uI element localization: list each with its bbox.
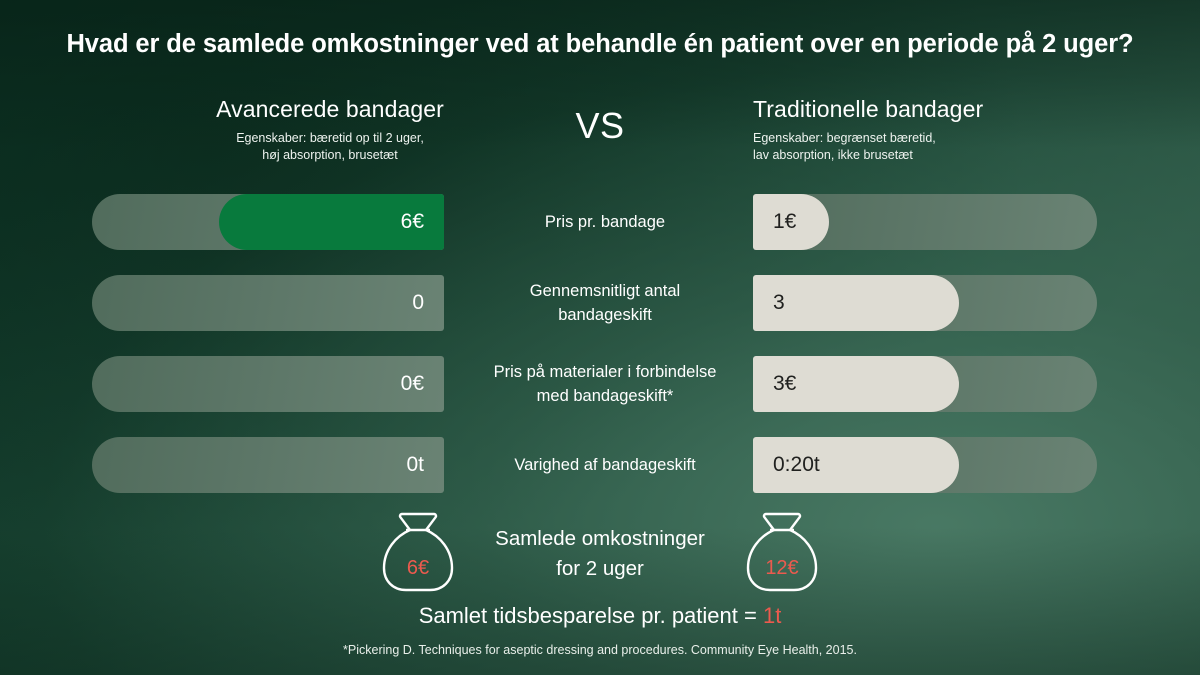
row-label-line1: Gennemsnitligt antal bbox=[460, 279, 750, 303]
bar-value-advanced: 6€ bbox=[401, 210, 424, 234]
bar-fill-advanced: 0 bbox=[92, 275, 444, 331]
row-label-line2: med bandageskift* bbox=[460, 384, 750, 408]
column-subtitle-traditional: Egenskaber: begrænset bæretid, lav absor… bbox=[753, 130, 1060, 164]
bar-track-traditional: 1€ bbox=[753, 194, 1097, 250]
comparison-row: 0€ Pris på materialer i forbindelse med … bbox=[0, 356, 1200, 412]
row-label-line2: bandageskift bbox=[460, 303, 750, 327]
comparison-row: 0t Varighed af bandageskift 0:20t bbox=[0, 437, 1200, 493]
bar-track-traditional: 3€ bbox=[753, 356, 1097, 412]
bar-fill-traditional: 3€ bbox=[753, 356, 959, 412]
money-bag-value-advanced: 6€ bbox=[376, 557, 460, 580]
bar-track-advanced: 0t bbox=[92, 437, 444, 493]
bar-fill-traditional: 3 bbox=[753, 275, 959, 331]
column-subtitle-advanced-line2: høj absorption, brusetæt bbox=[150, 147, 510, 164]
row-label-line1: Pris på materialer i forbindelse bbox=[460, 360, 750, 384]
bar-value-traditional: 3€ bbox=[773, 372, 796, 396]
bar-track-traditional: 0:20t bbox=[753, 437, 1097, 493]
column-subtitle-traditional-line2: lav absorption, ikke brusetæt bbox=[753, 147, 1060, 164]
bar-value-traditional: 1€ bbox=[773, 210, 796, 234]
column-heading-advanced: Avancerede bandager bbox=[150, 96, 510, 123]
bar-value-advanced: 0€ bbox=[401, 372, 424, 396]
savings-line: Samlet tidsbesparelse pr. patient = 1t bbox=[0, 603, 1200, 629]
bar-fill-advanced: 6€ bbox=[219, 194, 444, 250]
money-bag-icon bbox=[376, 508, 460, 594]
money-bag-traditional: 12€ bbox=[740, 508, 824, 594]
column-header-advanced: Avancerede bandager Egenskaber: bæretid … bbox=[150, 96, 510, 164]
row-label: Varighed af bandageskift bbox=[460, 453, 750, 477]
column-subtitle-advanced-line1: Egenskaber: bæretid op til 2 uger, bbox=[150, 130, 510, 147]
bar-track-traditional: 3 bbox=[753, 275, 1097, 331]
totals-label-line2: for 2 uger bbox=[450, 554, 750, 584]
bar-value-traditional: 3 bbox=[773, 291, 785, 315]
comparison-row: 0 Gennemsnitligt antal bandageskift 3 bbox=[0, 275, 1200, 331]
bar-fill-advanced: 0€ bbox=[92, 356, 444, 412]
bar-value-advanced: 0t bbox=[406, 453, 424, 477]
column-heading-traditional: Traditionelle bandager bbox=[753, 96, 1060, 123]
bar-track-advanced: 6€ bbox=[92, 194, 444, 250]
bar-track-advanced: 0€ bbox=[92, 356, 444, 412]
bar-value-advanced: 0 bbox=[412, 291, 424, 315]
bar-value-traditional: 0:20t bbox=[773, 453, 820, 477]
row-label-line1: Pris pr. bandage bbox=[460, 210, 750, 234]
row-label-line1: Varighed af bandageskift bbox=[460, 453, 750, 477]
savings-value: 1t bbox=[763, 603, 781, 628]
infographic-root: Hvad er de samlede omkostninger ved at b… bbox=[0, 0, 1200, 675]
page-title: Hvad er de samlede omkostninger ved at b… bbox=[0, 30, 1200, 59]
row-label: Gennemsnitligt antal bandageskift bbox=[460, 279, 750, 327]
vs-label: VS bbox=[540, 105, 660, 147]
column-subtitle-advanced: Egenskaber: bæretid op til 2 uger, høj a… bbox=[150, 130, 510, 164]
totals-label: Samlede omkostninger for 2 uger bbox=[450, 524, 750, 584]
bar-fill-traditional: 1€ bbox=[753, 194, 829, 250]
column-header-traditional: Traditionelle bandager Egenskaber: begræ… bbox=[700, 96, 1060, 164]
bar-track-advanced: 0 bbox=[92, 275, 444, 331]
comparison-row: 6€ Pris pr. bandage 1€ bbox=[0, 194, 1200, 250]
row-label: Pris på materialer i forbindelse med ban… bbox=[460, 360, 750, 408]
footnote: *Pickering D. Techniques for aseptic dre… bbox=[0, 643, 1200, 657]
bar-fill-traditional: 0:20t bbox=[753, 437, 959, 493]
column-subtitle-traditional-line1: Egenskaber: begrænset bæretid, bbox=[753, 130, 1060, 147]
bar-fill-advanced: 0t bbox=[92, 437, 444, 493]
money-bag-advanced: 6€ bbox=[376, 508, 460, 594]
savings-prefix: Samlet tidsbesparelse pr. patient = bbox=[419, 603, 763, 628]
money-bag-icon bbox=[740, 508, 824, 594]
money-bag-value-traditional: 12€ bbox=[740, 557, 824, 580]
totals-label-line1: Samlede omkostninger bbox=[450, 524, 750, 554]
row-label: Pris pr. bandage bbox=[460, 210, 750, 234]
